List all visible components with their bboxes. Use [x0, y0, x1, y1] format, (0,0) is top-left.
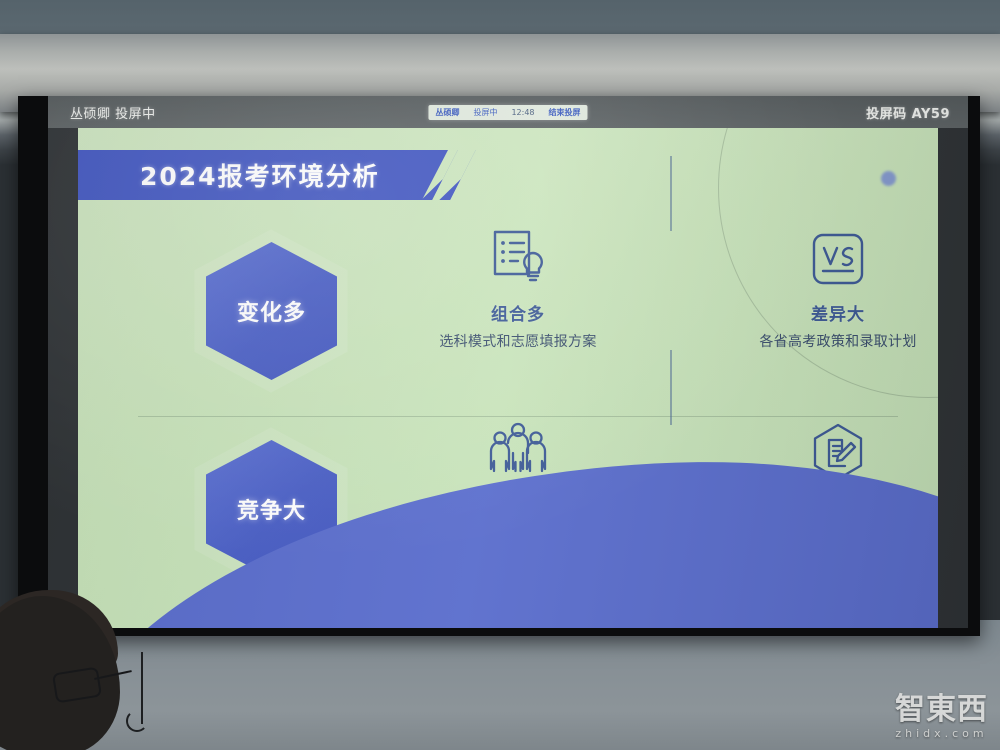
feature-cell-difference: 差异大 各省高考政策和录取计划: [698, 222, 938, 354]
hex-badge-change: 变化多: [186, 226, 356, 396]
stop-casting-button[interactable]: 结束投屏: [549, 107, 581, 118]
casting-status-text: 丛硕卿 投屏中: [70, 103, 156, 122]
glasses-arm: [94, 670, 132, 680]
casting-pill-user: 丛硕卿: [435, 107, 459, 118]
page-title: 2024报考环境分析: [140, 157, 380, 193]
slide-title-banner: 2024报考环境分析: [78, 150, 448, 200]
feature-title: 差异大: [698, 300, 938, 325]
watermark: 智東西 zhidx.com: [895, 695, 988, 740]
person-glasses: [54, 668, 134, 702]
casting-code-label: 投屏码 AY59: [866, 103, 950, 122]
hex-badge-label: 竞争大: [237, 493, 306, 525]
watermark-url: zhidx.com: [895, 727, 988, 740]
decorative-dot: [881, 171, 896, 186]
slide-canvas: 2024报考环境分析 变化多: [78, 128, 938, 628]
feature-desc: 各省高考政策和录取计划: [698, 332, 938, 354]
vs-icon: [698, 222, 938, 296]
lower-wall: [0, 620, 1000, 750]
hex-badge-label: 变化多: [237, 295, 306, 327]
casting-notification-pill[interactable]: 丛硕卿 投屏中 12:48 结束投屏: [428, 105, 587, 120]
casting-pill-state: 投屏中: [473, 107, 497, 118]
room-background: PROJECTION SCREEN 丛硕卿 投屏中 丛硕卿 投屏中 12:48 …: [0, 0, 1000, 750]
watermark-logo: 智東西: [895, 695, 988, 725]
glasses-lens: [52, 667, 102, 704]
title-slash-2: [439, 150, 475, 200]
hanging-cable-curl: [126, 710, 148, 732]
feature-title: 组合多: [378, 300, 658, 325]
checklist-lightbulb-icon: [378, 222, 658, 296]
casting-pill-time: 12:48: [511, 108, 534, 117]
feature-desc: 选科模式和志愿填报方案: [378, 332, 658, 354]
feature-cell-combinations: 组合多 选科模式和志愿填报方案: [378, 222, 658, 354]
projection-screen: 丛硕卿 投屏中 丛硕卿 投屏中 12:48 结束投屏 投屏码 AY59 2024…: [48, 96, 968, 628]
casting-status-bar: 丛硕卿 投屏中 丛硕卿 投屏中 12:48 结束投屏 投屏码 AY59: [48, 96, 968, 128]
projection-screen-frame: 丛硕卿 投屏中 丛硕卿 投屏中 12:48 结束投屏 投屏码 AY59 2024…: [18, 96, 980, 636]
